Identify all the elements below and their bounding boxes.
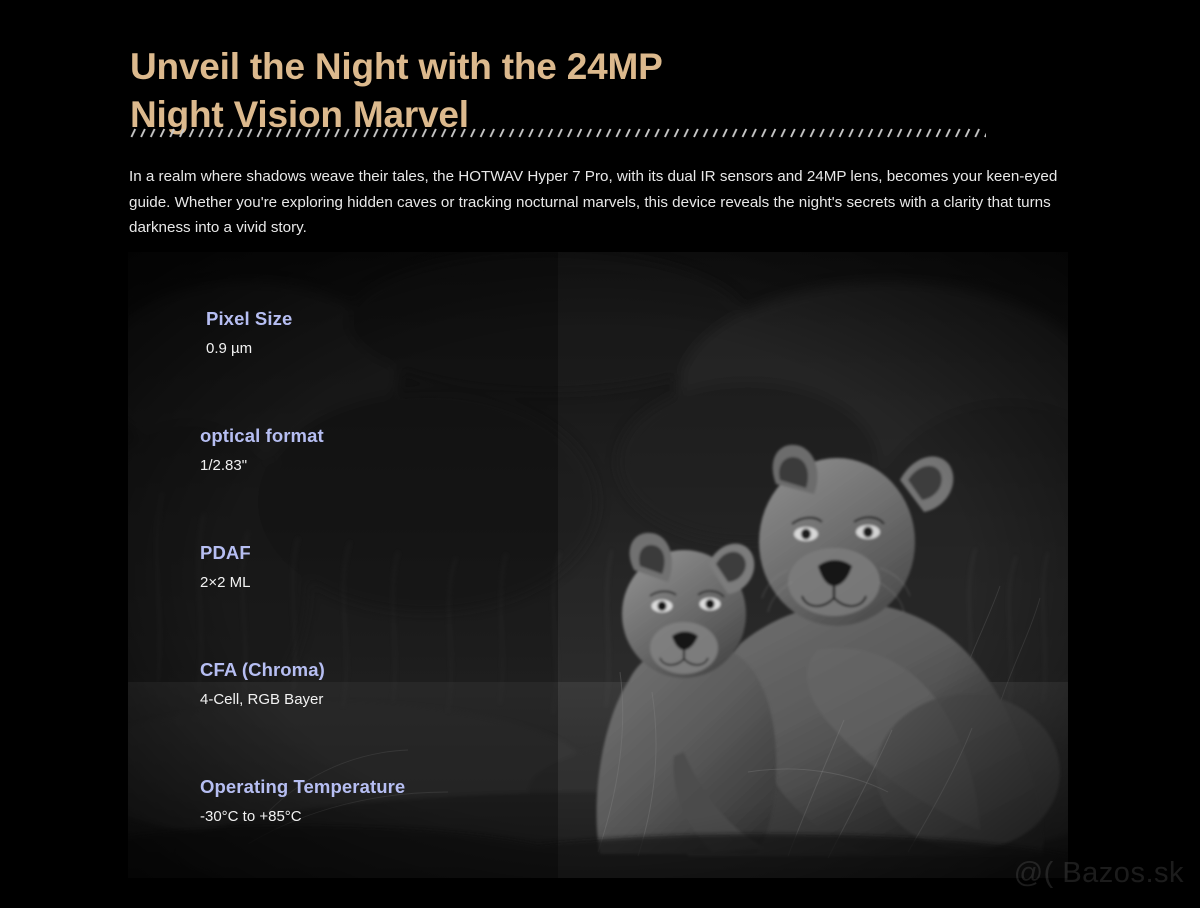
spec-item-pdaf: PDAF 2×2 ML bbox=[200, 541, 251, 594]
spec-overlay-list: Pixel Size 0.9 µm optical format 1/2.83"… bbox=[128, 252, 548, 878]
spec-label: optical format bbox=[200, 424, 324, 448]
spec-label: CFA (Chroma) bbox=[200, 658, 325, 682]
body-paragraph: In a realm where shadows weave their tal… bbox=[129, 164, 1074, 241]
spec-value: 1/2.83" bbox=[200, 455, 324, 477]
spec-value: 4-Cell, RGB Bayer bbox=[200, 689, 325, 711]
diagonal-tick-divider-icon bbox=[129, 126, 986, 140]
page-root: Unveil the Night with the 24MP Night Vis… bbox=[0, 0, 1200, 908]
spec-label: Operating Temperature bbox=[200, 775, 405, 799]
spec-item-pixel-size: Pixel Size 0.9 µm bbox=[206, 307, 292, 360]
spec-item-cfa-chroma: CFA (Chroma) 4-Cell, RGB Bayer bbox=[200, 658, 325, 711]
product-photo-panel: Pixel Size 0.9 µm optical format 1/2.83"… bbox=[128, 252, 1068, 878]
spec-value: 0.9 µm bbox=[206, 338, 292, 360]
spec-value: -30°C to +85°C bbox=[200, 806, 405, 828]
spec-value: 2×2 ML bbox=[200, 572, 251, 594]
page-title: Unveil the Night with the 24MP Night Vis… bbox=[130, 43, 1030, 139]
spec-label: Pixel Size bbox=[206, 307, 292, 331]
spec-label: PDAF bbox=[200, 541, 251, 565]
spec-item-optical-format: optical format 1/2.83" bbox=[200, 424, 324, 477]
spec-item-operating-temperature: Operating Temperature -30°C to +85°C bbox=[200, 775, 405, 828]
